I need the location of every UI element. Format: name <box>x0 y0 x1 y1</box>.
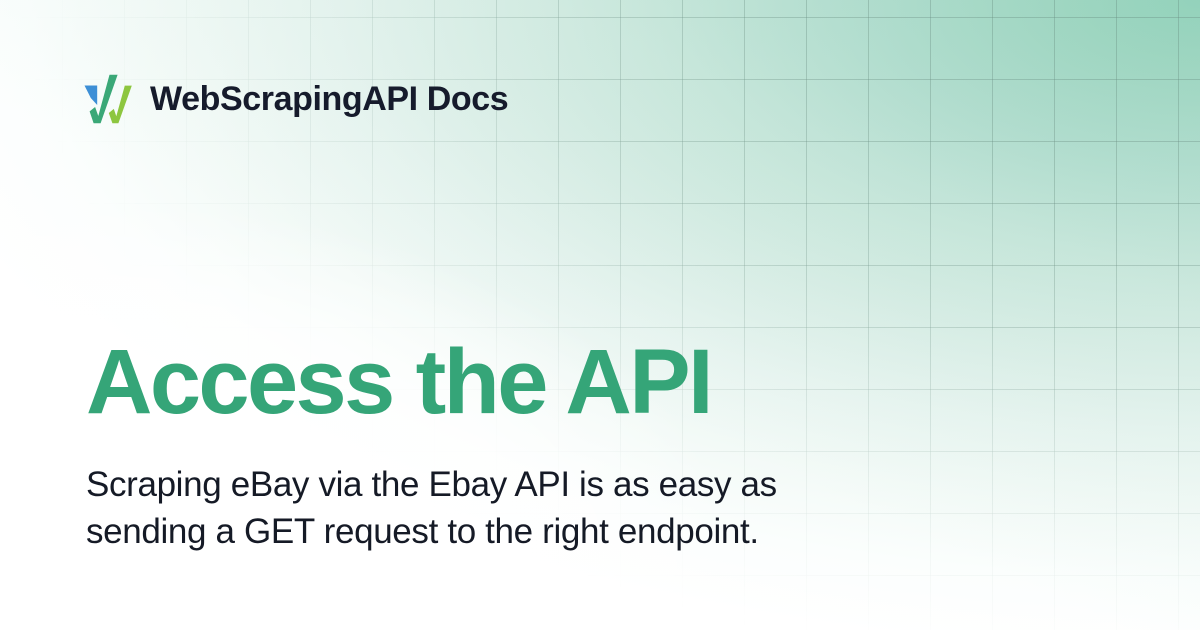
hero-block: Access the API Scraping eBay via the Eba… <box>86 336 1080 555</box>
brand-header[interactable]: WebScrapingAPI Docs <box>84 74 508 124</box>
webscrapingapi-logo-icon <box>84 74 132 124</box>
brand-title: WebScrapingAPI Docs <box>150 82 508 116</box>
og-card: WebScrapingAPI Docs Access the API Scrap… <box>0 0 1200 630</box>
page-subtitle: Scraping eBay via the Ebay API is as eas… <box>86 462 876 555</box>
card-content: WebScrapingAPI Docs Access the API Scrap… <box>0 0 1200 630</box>
page-title: Access the API <box>86 336 1080 428</box>
